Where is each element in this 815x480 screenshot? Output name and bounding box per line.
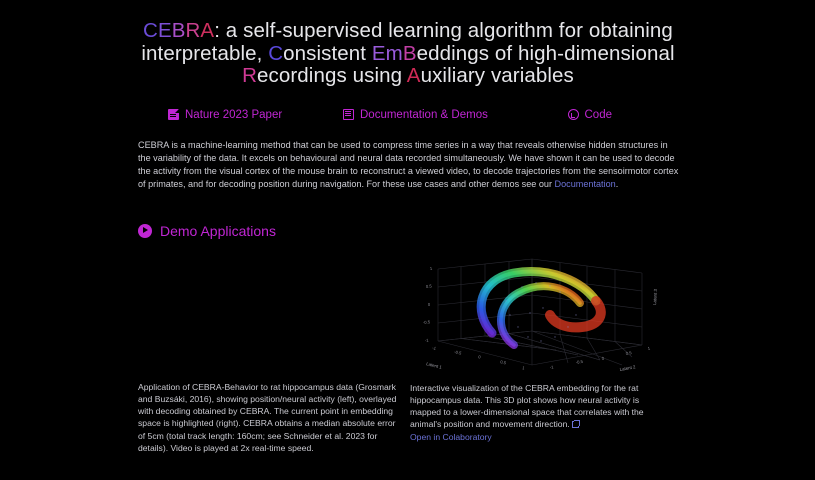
title-letter-b: B (172, 19, 186, 42)
title-recordings-r: R (242, 64, 257, 87)
intro-text-tail: . (616, 179, 619, 189)
title-consistent-c: C (268, 42, 283, 65)
title-letter-e: E (158, 19, 172, 42)
link-code-label: Code (585, 108, 613, 122)
intro-paragraph: CEBRA is a machine-learning method that … (136, 139, 680, 191)
svg-text:0.5: 0.5 (426, 283, 433, 289)
plot-x-tick-labels: -1 -0.5 0 0.5 1 (432, 345, 526, 371)
svg-text:1: 1 (430, 265, 434, 270)
cebra-landing-page: CEBRA: a self-supervised learning algori… (0, 0, 815, 480)
title-auxiliary-a: A (407, 64, 421, 87)
demo-right-caption-text: Interactive visualization of the CEBRA e… (410, 383, 644, 430)
title-letter-c: C (143, 19, 158, 42)
svg-text:-1: -1 (549, 364, 554, 370)
title-letter-r: R (186, 19, 201, 42)
plot-zlabel: Latent 3 (652, 288, 658, 305)
page-content: CEBRA: a self-supervised learning algori… (136, 0, 680, 480)
svg-text:-0.5: -0.5 (423, 319, 431, 325)
open-in-colab-link[interactable]: Open in Colaboratory (410, 432, 492, 442)
svg-text:0.5: 0.5 (500, 359, 508, 365)
link-code[interactable]: Code (568, 108, 661, 122)
svg-text:0: 0 (478, 354, 482, 360)
title-em: Em (372, 42, 403, 65)
title-letter-a: A (200, 19, 214, 42)
title-rest-line1: : a self-supervised learning algorithm f… (214, 19, 673, 42)
svg-text:-0.5: -0.5 (454, 349, 463, 356)
link-row: Nature 2023 Paper Documentation & Demos … (136, 108, 680, 122)
title-onsistent: onsistent (283, 42, 372, 65)
svg-text:-0.5: -0.5 (575, 358, 584, 364)
svg-text:-1: -1 (432, 345, 437, 351)
demo-left-column: Application of CEBRA-Behavior to rat hip… (138, 253, 410, 455)
svg-text:0: 0 (428, 301, 432, 306)
link-nature-paper[interactable]: Nature 2023 Paper (168, 108, 343, 122)
title-ecordings: ecordings using (257, 64, 407, 87)
embedding-points-inner (501, 286, 580, 345)
svg-text:1: 1 (522, 365, 526, 371)
cebra-3d-embedding-plot[interactable]: 1 0.5 0 -0.5 -1 -1 -0.5 0 0.5 1 (410, 253, 672, 375)
title-interpretable: interpretable, (141, 42, 268, 65)
demo-video-player[interactable] (138, 253, 400, 321)
file-icon (168, 109, 179, 120)
embedding-scatter-svg: 1 0.5 0 -0.5 -1 -1 -0.5 0 0.5 1 (410, 253, 672, 375)
demo-applications-heading: Demo Applications (136, 223, 680, 239)
github-icon (568, 109, 579, 120)
svg-text:-1: -1 (425, 337, 430, 342)
plot-xlabel: Latent 1 (426, 361, 443, 370)
page-title: CEBRA: a self-supervised learning algori… (136, 0, 680, 88)
demo-right-column: 1 0.5 0 -0.5 -1 -1 -0.5 0 0.5 1 (410, 253, 672, 455)
plot-ylabel: Latent 2 (619, 364, 636, 372)
plot-z-tick-labels: 1 0.5 0 -0.5 -1 (423, 265, 434, 342)
link-nature-paper-label: Nature 2023 Paper (185, 108, 282, 122)
play-circle-icon (138, 224, 152, 238)
title-uxiliary: uxiliary variables (421, 64, 574, 87)
svg-text:1: 1 (647, 345, 651, 350)
title-embeddings-b: B (403, 42, 417, 65)
external-link-icon[interactable] (572, 421, 579, 428)
book-icon (343, 109, 354, 120)
link-documentation-demos-label: Documentation & Demos (360, 108, 488, 122)
demo-applications-title: Demo Applications (160, 223, 276, 239)
title-eddings: eddings of high-dimensional (417, 42, 675, 65)
demo-left-caption: Application of CEBRA-Behavior to rat hip… (138, 381, 400, 455)
intro-documentation-link[interactable]: Documentation (555, 179, 616, 189)
svg-text:0.5: 0.5 (625, 349, 632, 355)
link-documentation-demos[interactable]: Documentation & Demos (343, 108, 568, 122)
plot-y-tick-labels: -1 -0.5 0 0.5 1 (549, 345, 651, 369)
demo-right-caption: Interactive visualization of the CEBRA e… (410, 382, 672, 443)
demo-grid: Application of CEBRA-Behavior to rat hip… (136, 253, 680, 455)
